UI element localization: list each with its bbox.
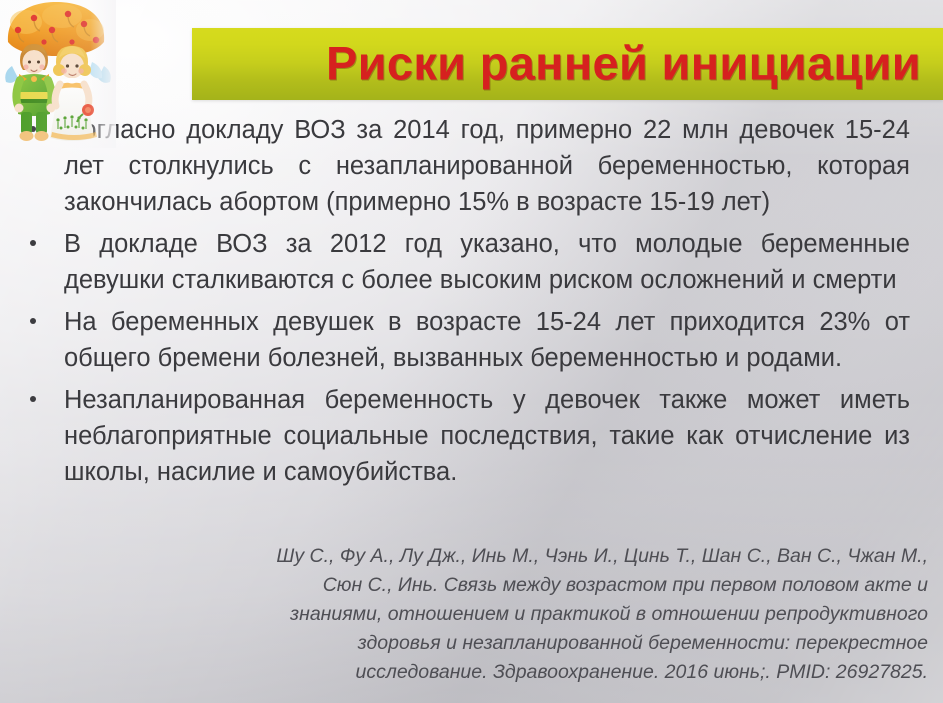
bullet-text-1: Согласно докладу ВОЗ за 2014 год, пример… [64,112,910,220]
page-title: Риски ранней инициации [326,40,921,87]
bullet-text-3: На беременных девушек в возрасте 15-24 л… [64,304,910,376]
bullet-item-2: В докладе ВОЗ за 2012 год указано, что м… [0,226,943,298]
bullet-marker-icon [30,396,36,402]
citation-reference: Шу С., Фу А., Лу Дж., Инь М., Чэнь И., Ц… [240,542,928,687]
title-band: Риски ранней инициации [192,28,943,100]
bullet-marker-icon [30,318,36,324]
bullet-item-1: Согласно докладу ВОЗ за 2014 год, пример… [0,112,943,220]
bullet-marker-icon [30,240,36,246]
dolls-decoration-image [0,0,116,148]
bullet-item-3: На беременных девушек в возрасте 15-24 л… [0,304,943,376]
bullet-text-4: Незапланированная беременность у девочек… [64,382,910,490]
slide: Риски ранней инициации [0,0,943,703]
body-content: Согласно докладу ВОЗ за 2014 год, пример… [0,112,943,490]
bullet-text-2: В докладе ВОЗ за 2012 год указано, что м… [64,226,910,298]
bullet-item-4: Незапланированная беременность у девочек… [0,382,943,490]
